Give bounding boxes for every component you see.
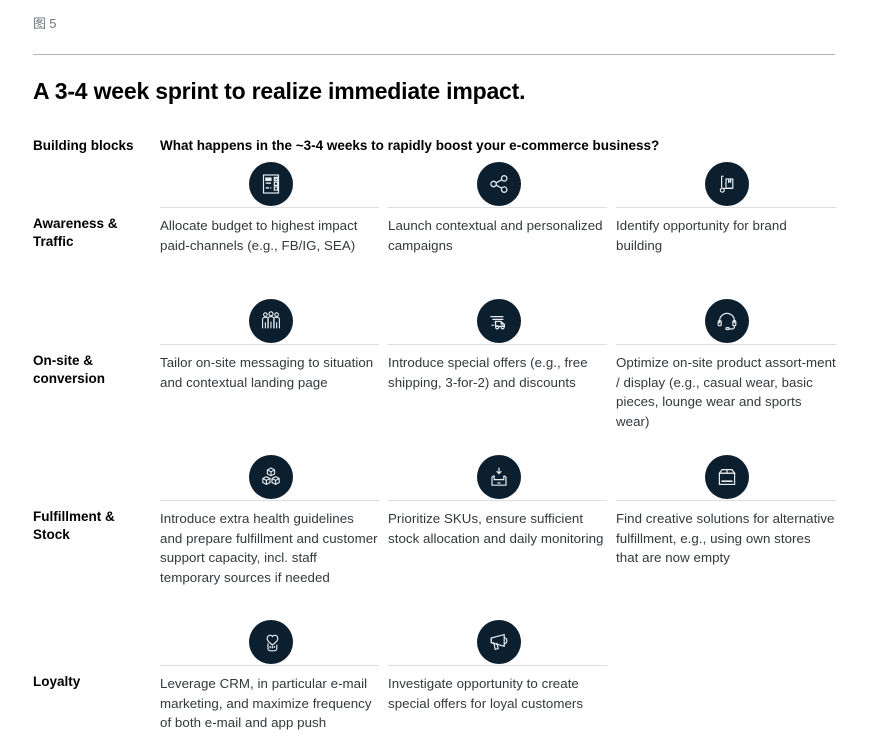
figure-tag: 图5 [33,13,57,32]
headset-support-icon [705,299,749,343]
people-group-icon [249,299,293,343]
cell-text: Prioritize SKUs, ensure sufficient stock… [388,509,607,548]
cell-divider [388,665,607,666]
cell-text: Optimize on-site product assort-ment / d… [616,353,836,431]
row-label: Loyalty [33,673,153,691]
share-network-icon [477,162,521,206]
figure-number: 5 [49,16,56,31]
cell-text: Find creative solutions for alternative … [616,509,836,568]
cell-text: Introduce special offers (e.g., free shi… [388,353,607,392]
question-header: What happens in the ~3-4 weeks to rapidl… [160,136,659,155]
cell-text: Leverage CRM, in particular e-mail marke… [160,674,379,733]
cell-text: Investigate opportunity to create specia… [388,674,607,713]
stacked-boxes-icon [249,455,293,499]
cell-divider [616,344,836,345]
cell-text: Introduce extra health guidelines and pr… [160,509,379,587]
cell-divider [388,344,607,345]
cell-divider [160,207,379,208]
figure-tag-label: 图 [33,16,46,31]
hand-truck-box-icon [705,162,749,206]
row-label: Fulfillment & Stock [33,508,153,544]
cell-text: Identify opportunity for brand building [616,216,836,255]
cell-divider [388,500,607,501]
cell-divider [616,500,836,501]
cell-text: Launch contextual and personalized campa… [388,216,607,255]
package-box-icon [705,455,749,499]
cell-divider [388,207,607,208]
cell-text: Allocate budget to highest impact paid-c… [160,216,379,255]
building-blocks-header: Building blocks [33,136,153,155]
row-label: Awareness & Traffic [33,215,153,251]
cell-divider [616,207,836,208]
cell-divider [160,665,379,666]
header-divider [33,54,835,55]
megaphone-icon [477,620,521,664]
cell-text: Tailor on-site messaging to situation an… [160,353,379,392]
page-title: A 3-4 week sprint to realize immediate i… [33,78,525,105]
figure-page: 图5 A 3-4 week sprint to realize immediat… [0,0,874,755]
cell-divider [160,500,379,501]
checklist-icon [249,162,293,206]
hand-heart-icon [249,620,293,664]
delivery-truck-icon [477,299,521,343]
box-arrow-down-icon [477,455,521,499]
row-label: On-site & conversion [33,352,153,388]
cell-divider [160,344,379,345]
